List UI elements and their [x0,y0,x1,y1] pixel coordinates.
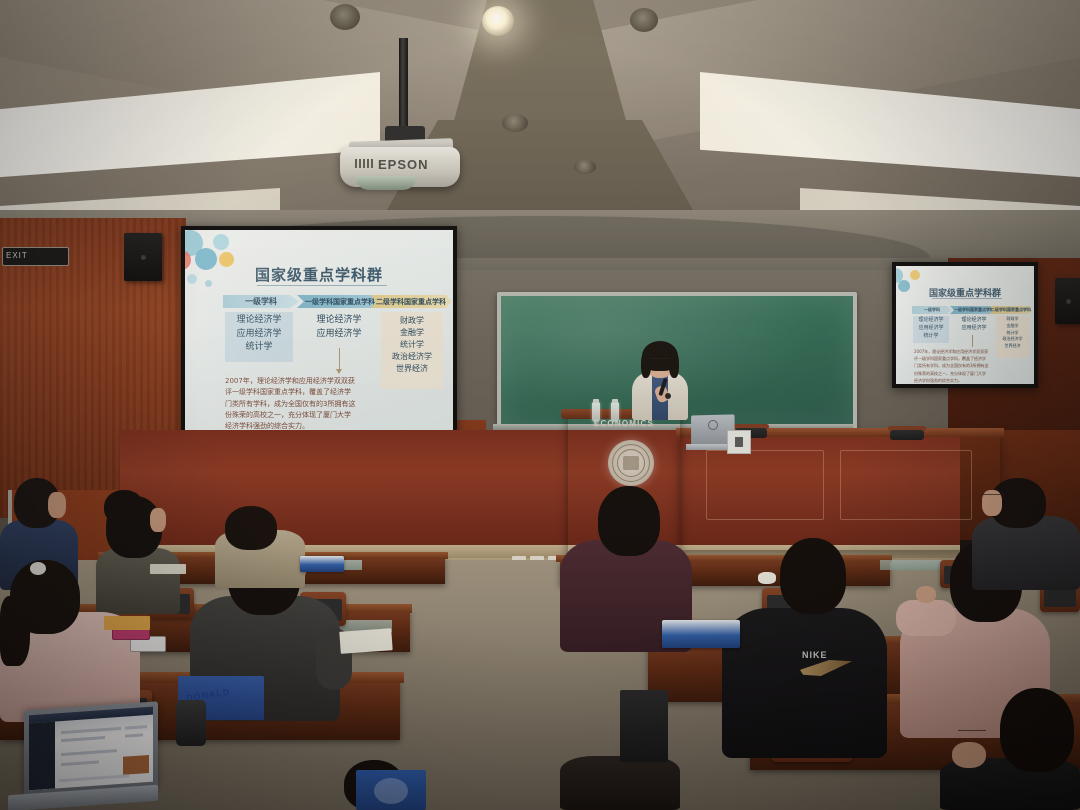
slide-col1-item: 应用经济学 [913,324,949,332]
decor-circle [898,280,910,292]
slide-arrow-head-icon [336,369,342,374]
slide-col3-item: 世界经济 [381,363,443,375]
slide-col2-item: 应用经济学 [954,324,994,332]
desk-document [727,430,751,454]
decor-circle [213,234,229,250]
browser-sidebar [29,722,55,791]
hair-tie-icon [30,562,46,575]
slide-body-line: 门类所有学科，成为全国仅有的3所拥有这 [914,362,994,369]
slide-decor-circles [185,230,255,304]
podium-label: ECONOMICS [568,419,680,428]
bottle-cap-icon [593,399,599,403]
slide-column-one: 理论经济学 应用经济学 统计学 [225,312,293,362]
projection-screen-main: 国家级重点学科群 一级学科 一级学科国家重点学科 二级学科国家重点学科 理论经济… [181,226,457,448]
slide-decor-circles [896,266,932,306]
hp-logo-icon [708,420,718,430]
slide-body-line: 评一级学科国家重点学科，覆盖了经济学 [225,387,375,398]
browser-toolbar[interactable] [29,707,153,724]
desk-panel-inset [840,450,972,520]
decor-circle [205,280,212,287]
projector-lens-icon [355,176,417,190]
slide-col2-item: 应用经济学 [303,328,375,342]
slide-body-line: 2007年，理论经济学和应用经济学双双获 [225,376,375,387]
content-line [61,760,99,766]
slide-col3-item: 财政学 [381,315,443,327]
downlight-icon-2 [482,6,514,36]
slide-title-rule [257,285,387,286]
desk-box [662,620,740,648]
slide-body-line: 2007年，理论经济学和应用经济学双双获 [914,348,994,355]
slide-col1-item: 理论经济学 [913,316,949,324]
presenter-hair-right [669,352,679,378]
content-line [61,749,117,756]
downlight-icon-4 [502,114,528,132]
content-line [61,736,105,742]
person-hair [0,596,30,666]
slide-col3-item: 金融学 [381,327,443,339]
speaker-cone-icon [141,255,146,260]
slide-title: 国家级重点学科群 [255,264,383,285]
slide-col3-item: 财政学 [996,316,1029,323]
notebook [339,628,392,654]
person-head [225,506,277,550]
person-head [1000,688,1074,772]
slide-col2-item: 理论经济学 [954,316,994,324]
ceiling: EPSON [0,0,1080,218]
slide-column-two: 理论经济学 应用经济学 [954,316,994,334]
slide-body-line: 评一级学科国家重点学科，覆盖了经济学 [914,355,994,362]
presenter-glasses-icon [650,358,670,364]
slide-body-line: 经济学科强劲的综合实力。 [914,377,994,384]
exit-sign: EXIT [2,247,69,266]
slide-body-line: 门类所有学科，成为全国仅有的3所拥有这 [225,399,375,410]
decor-circle [195,248,217,270]
tissue [758,572,776,584]
person-head [598,486,660,556]
bag-graphic [374,778,408,804]
slide-header-chevron-1: 一级学科 [223,295,299,308]
slide-arrow-line [972,335,973,347]
slide-header-chevron-3: 二级学科国家重点学科 [371,295,451,308]
content-line [125,725,147,730]
seal-emblem [623,456,639,470]
slide-col3-item: 统计学 [381,339,443,351]
wall-speaker-left [124,233,162,281]
content-line [59,774,129,782]
person-arm [896,600,956,636]
nike-brand-label: NIKE [802,650,828,660]
presenter-hair-left [641,352,651,378]
slide-header-chevron-2: 一级学科国家重点学科 [297,295,383,308]
slide-column-one: 理论经济学 应用经济学 统计学 [913,316,949,343]
slide-body-text: 2007年，理论经济学和应用经济学双双获 评一级学科国家重点学科，覆盖了经济学 … [914,348,994,384]
laptop-screen[interactable] [29,707,153,791]
downlight-icon-5 [574,160,596,174]
downlight-icon-3 [630,8,658,32]
slide-body-line: 份殊荣的高校之一，充分体现了厦门大学 [914,370,994,377]
person-glasses-icon [982,494,1004,500]
desk-box [300,556,344,572]
lecture-hall-photo: EPSON EXIT 国家级重点学科群 [0,0,1080,810]
downlight-icon-1 [330,4,360,30]
content-thumbnail [123,755,149,775]
person-head [104,490,144,524]
decor-circle [187,274,197,284]
slide-header-chevron-3: 二级学科国家重点学科 [990,306,1032,314]
slide-side: 国家级重点学科群 一级学科 一级学科国家重点学科 二级学科国家重点学科 理论经济… [896,266,1034,384]
person-face [150,508,166,532]
student-laptop[interactable] [8,706,158,810]
slide-header-chevron-1: 一级学科 [912,306,952,314]
stage-chair-back [890,430,924,440]
decor-circle [910,270,920,280]
content-line [125,733,143,737]
slide-col1-item: 统计学 [913,332,949,340]
notebook [104,616,150,630]
slide-col3-item: 世界经济 [996,343,1029,350]
projection-screen-side: 国家级重点学科群 一级学科 一级学科国家重点学科 二级学科国家重点学科 理论经济… [892,262,1038,388]
backpack [620,690,668,762]
slide-column-two: 理论经济学 应用经济学 [303,312,375,348]
bottle-cap-icon [612,399,618,403]
projector-logo-icon [355,159,373,168]
person-glasses-icon [958,730,986,736]
person-face [48,492,66,518]
slide-col1-item: 统计学 [225,341,293,355]
decor-circle [219,252,234,267]
person-torso [560,756,680,810]
notebook [150,564,186,574]
desk-panel-inset [706,450,824,520]
person-head [780,538,846,614]
person-hand [952,742,986,768]
projector-brand-label: EPSON [378,157,429,172]
water-bottle-1 [592,402,600,422]
tote-bag [356,770,426,810]
slide-body-text: 2007年，理论经济学和应用经济学双双获 评一级学科国家重点学科，覆盖了经济学 … [225,376,375,433]
person-torso-nike-hoodie [722,608,887,758]
wall-speaker-right [1055,278,1080,324]
slide-col1-item: 理论经济学 [225,314,293,328]
slide-column-three: 财政学 金融学 统计学 政治经济学 世界经济 [381,312,443,389]
content-line [61,727,121,734]
slide-col3-item: 政治经济学 [381,351,443,363]
slide-col1-item: 应用经济学 [225,328,293,342]
slide-title-rule [932,298,1002,299]
slide-main: 国家级重点学科群 一级学科 一级学科国家重点学科 二级学科国家重点学科 理论经济… [185,230,453,444]
person-hand [916,586,936,603]
slide-arrow-line [339,348,340,370]
microphone-head-icon [665,393,671,399]
presenter-laptop-base[interactable] [686,444,728,450]
water-bottle-2 [611,402,619,422]
university-seal-icon [608,440,654,486]
slide-col3-item: 金融学 [996,323,1029,330]
slide-body-line: 份殊荣的高校之一，充分体现了厦门大学 [225,410,375,421]
thermos-bottle [176,700,206,746]
laptop-lid [24,701,158,796]
slide-col2-item: 理论经济学 [303,314,375,328]
slide-column-three: 财政学 金融学 统计学 政治经济学 世界经济 [996,316,1029,358]
speaker-cone-icon [1066,299,1071,304]
